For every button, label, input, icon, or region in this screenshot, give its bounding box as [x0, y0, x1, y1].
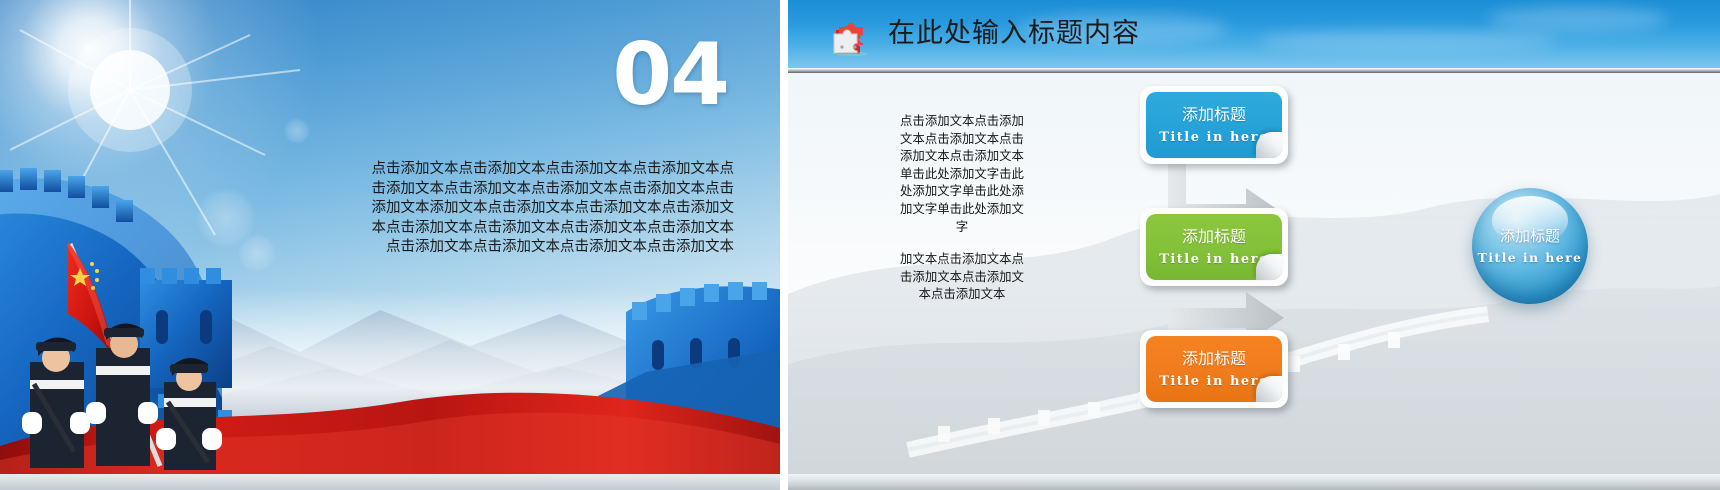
note-card-blue[interactable]: 添加标题 Title in here	[1140, 86, 1288, 164]
orb-subtitle: Title in here	[1478, 251, 1583, 265]
great-wall-tower-icon	[586, 252, 780, 462]
lens-flare-icon	[284, 118, 310, 144]
header-divider-rule	[788, 68, 1720, 73]
left-slide-footer-bar	[0, 474, 780, 490]
page-curl-icon	[1256, 254, 1282, 280]
note-card-orange[interactable]: 添加标题 Title in here	[1140, 330, 1288, 408]
slide-gutter	[780, 0, 788, 490]
misty-mountains-icon	[0, 240, 780, 420]
left-slide[interactable]: 04 点击添加文本点击添加文本点击添加文本点击添加文本点击添加文本点击添加文本点…	[0, 0, 780, 490]
right-body-paragraph: 点击添加文本点击添加文本点击添加文本点击添加文本点击添加文本单击此处添加文字击此…	[896, 112, 1028, 235]
note-title: 添加标题	[1182, 227, 1246, 247]
right-slide-footer-bar	[788, 474, 1720, 490]
slide-deck: 04 点击添加文本点击添加文本点击添加文本点击添加文本点击添加文本点击添加文本点…	[0, 0, 1720, 490]
orb-title: 添加标题	[1500, 227, 1560, 245]
lens-flare-icon	[196, 188, 256, 248]
note-title: 添加标题	[1182, 105, 1246, 125]
page-curl-icon	[1256, 132, 1282, 158]
right-slide-title: 在此处输入标题内容	[888, 14, 1140, 54]
section-number: 04	[612, 32, 728, 118]
sun-rays-icon	[0, 0, 420, 360]
cloud-decoration	[1258, 30, 1558, 52]
fog-overlay	[0, 290, 780, 430]
right-body-paragraph: 加文本点击添加文本点击添加文本点击添加文本点击添加文本	[896, 250, 1028, 303]
honor-guard-icon	[10, 216, 290, 476]
right-slide[interactable]: 在此处输入标题内容	[788, 0, 1720, 490]
lens-flare-icon	[238, 234, 276, 272]
puzzle-piece-icon	[830, 12, 876, 56]
note-subtitle: Title in here	[1159, 252, 1269, 267]
result-orb[interactable]: 添加标题 Title in here	[1472, 188, 1588, 304]
page-curl-icon	[1256, 376, 1282, 402]
cloud-decoration	[1488, 6, 1668, 32]
left-body-text[interactable]: 点击添加文本点击添加文本点击添加文本点击添加文本点击添加文本点击添加文本点击添加…	[364, 160, 734, 258]
sun-flare-icon	[0, 0, 380, 320]
note-title: 添加标题	[1182, 349, 1246, 369]
note-subtitle: Title in here	[1159, 374, 1269, 389]
note-card-green[interactable]: 添加标题 Title in here	[1140, 208, 1288, 286]
great-wall-silhouette-icon	[0, 148, 320, 478]
right-body-text[interactable]: 点击添加文本点击添加文本点击添加文本点击添加文本点击添加文本单击此处添加文字击此…	[896, 112, 1028, 303]
note-subtitle: Title in here	[1159, 130, 1269, 145]
